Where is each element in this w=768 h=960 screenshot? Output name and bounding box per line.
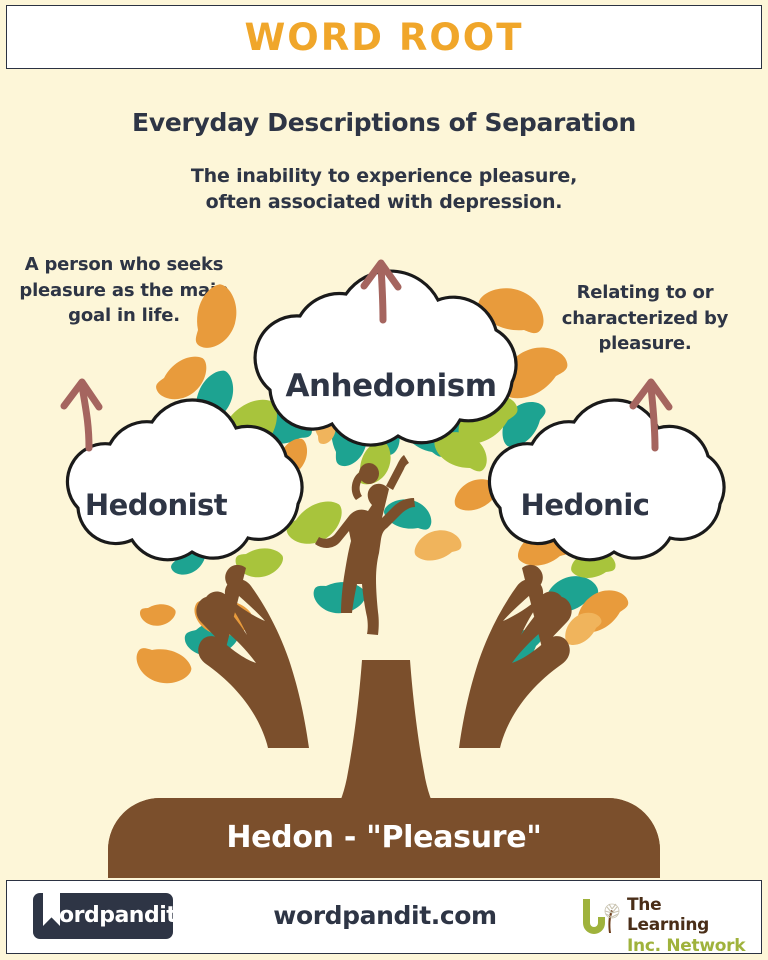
footer-bar: ordpandit wordpandit.com The Learning In… [6,880,762,954]
partner-line-1: The Learning [627,895,747,936]
root-banner [108,798,660,878]
learning-network-logo[interactable]: The Learning Inc. Network [575,893,747,941]
arrow-up-left [64,382,99,448]
tree-illustration [0,0,768,960]
partner-line-2: Inc. Network [627,936,747,956]
learning-network-text: The Learning Inc. Network [627,895,747,956]
infographic-page: WORD ROOT Everyday Descriptions of Separ… [0,0,768,960]
learning-network-mark [575,893,623,941]
tree-hands-branches [196,565,571,814]
